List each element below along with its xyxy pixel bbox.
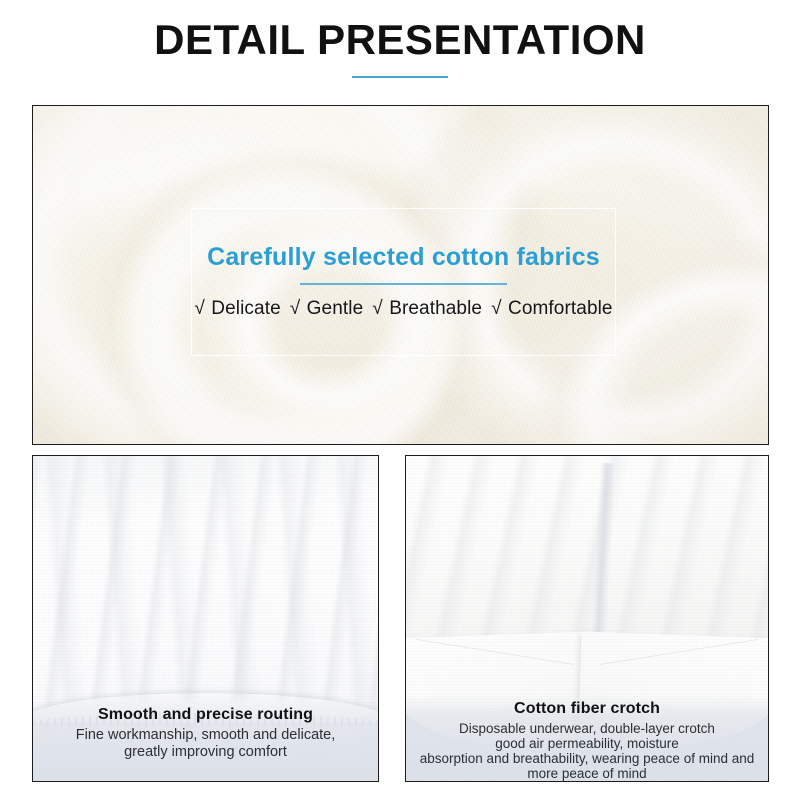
- hero-feature-item: √ Breathable: [372, 298, 491, 319]
- check-icon: √: [290, 298, 302, 319]
- title-underline-accent: [352, 76, 448, 78]
- caption-line: absorption and breathability, wearing pe…: [410, 751, 764, 766]
- caption-body: Fine workmanship, smooth and delicate, g…: [37, 727, 374, 761]
- caption-title: Smooth and precise routing: [37, 705, 374, 725]
- hero-feature-list: √ Delicate√ Gentle√ Breathable√ Comforta…: [194, 298, 612, 320]
- caption-title: Cotton fiber crotch: [410, 699, 764, 719]
- hero-feature-label: Delicate: [211, 298, 280, 319]
- caption-line: greatly improving comfort: [37, 744, 374, 761]
- hero-feature-label: Gentle: [307, 298, 364, 319]
- caption-line: Fine workmanship, smooth and delicate,: [37, 727, 374, 744]
- hero-feature-label: Comfortable: [508, 298, 613, 319]
- caption-body: Disposable underwear, double-layer crotc…: [410, 721, 764, 781]
- caption-line: Disposable underwear, double-layer crotc…: [410, 721, 764, 736]
- detail-panel-cotton-crotch: Cotton fiber crotch Disposable underwear…: [405, 455, 769, 782]
- check-icon: √: [491, 298, 503, 319]
- page-header: DETAIL PRESENTATION: [0, 18, 800, 78]
- panel-caption: Smooth and precise routing Fine workmans…: [33, 701, 378, 781]
- caption-line: more peace of mind: [410, 766, 764, 781]
- caption-line: good air permeability, moisture: [410, 736, 764, 751]
- hero-feature-label: Breathable: [389, 298, 482, 319]
- hero-feature-item: √ Gentle: [290, 298, 373, 319]
- detail-presentation-page: DETAIL PRESENTATION Carefully selected c…: [0, 0, 800, 800]
- hero-text-box: Carefully selected cotton fabrics √ Deli…: [191, 208, 616, 356]
- panel-caption: Cotton fiber crotch Disposable underwear…: [406, 695, 768, 781]
- hero-headline: Carefully selected cotton fabrics: [207, 244, 600, 272]
- detail-panel-smooth-routing: Smooth and precise routing Fine workmans…: [32, 455, 379, 782]
- page-title: DETAIL PRESENTATION: [0, 18, 800, 62]
- hero-panel: Carefully selected cotton fabrics √ Deli…: [32, 105, 769, 445]
- hero-feature-item: √ Delicate: [194, 298, 289, 319]
- hero-feature-item: √ Comfortable: [491, 298, 613, 319]
- hero-divider-line: [300, 283, 507, 285]
- check-icon: √: [372, 298, 384, 319]
- check-icon: √: [194, 298, 206, 319]
